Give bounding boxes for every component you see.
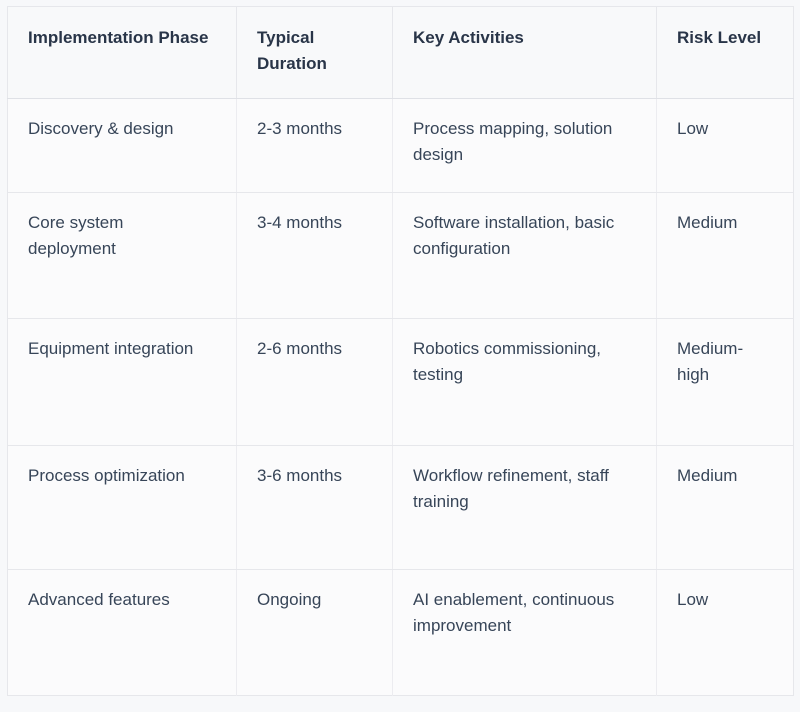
table-row: Discovery & design 2-3 months Process ma… [8, 98, 794, 192]
table-body: Discovery & design 2-3 months Process ma… [8, 98, 794, 695]
cell-risk: Medium [657, 192, 794, 318]
column-header-key-activities: Key Activities [393, 7, 657, 99]
column-header-typical-duration: Typical Duration [237, 7, 393, 99]
cell-activity: Robotics commissioning, testing [393, 318, 657, 445]
cell-risk: Low [657, 98, 794, 192]
column-header-risk-level: Risk Level [657, 7, 794, 99]
cell-activity: AI enablement, continuous improvement [393, 569, 657, 695]
column-header-implementation-phase: Implementation Phase [8, 7, 237, 99]
cell-risk: Medium [657, 445, 794, 569]
table-row: Process optimization 3-6 months Workflow… [8, 445, 794, 569]
cell-phase: Equipment integration [8, 318, 237, 445]
table-row: Advanced features Ongoing AI enablement,… [8, 569, 794, 695]
cell-duration: 2-3 months [237, 98, 393, 192]
table-row: Equipment integration 2-6 months Robotic… [8, 318, 794, 445]
cell-risk: Low [657, 569, 794, 695]
cell-activity: Software installation, basic configurati… [393, 192, 657, 318]
cell-duration: 2-6 months [237, 318, 393, 445]
implementation-phase-table-container: Implementation Phase Typical Duration Ke… [7, 6, 793, 696]
cell-phase: Discovery & design [8, 98, 237, 192]
implementation-phase-table: Implementation Phase Typical Duration Ke… [7, 6, 794, 696]
cell-risk: Medium-high [657, 318, 794, 445]
table-row: Core system deployment 3-4 months Softwa… [8, 192, 794, 318]
cell-activity: Workflow refinement, staff training [393, 445, 657, 569]
cell-phase: Core system deployment [8, 192, 237, 318]
table-header-row: Implementation Phase Typical Duration Ke… [8, 7, 794, 99]
cell-duration: 3-4 months [237, 192, 393, 318]
cell-activity: Process mapping, solution design [393, 98, 657, 192]
cell-phase: Advanced features [8, 569, 237, 695]
cell-duration: Ongoing [237, 569, 393, 695]
cell-phase: Process optimization [8, 445, 237, 569]
cell-duration: 3-6 months [237, 445, 393, 569]
table-header: Implementation Phase Typical Duration Ke… [8, 7, 794, 99]
